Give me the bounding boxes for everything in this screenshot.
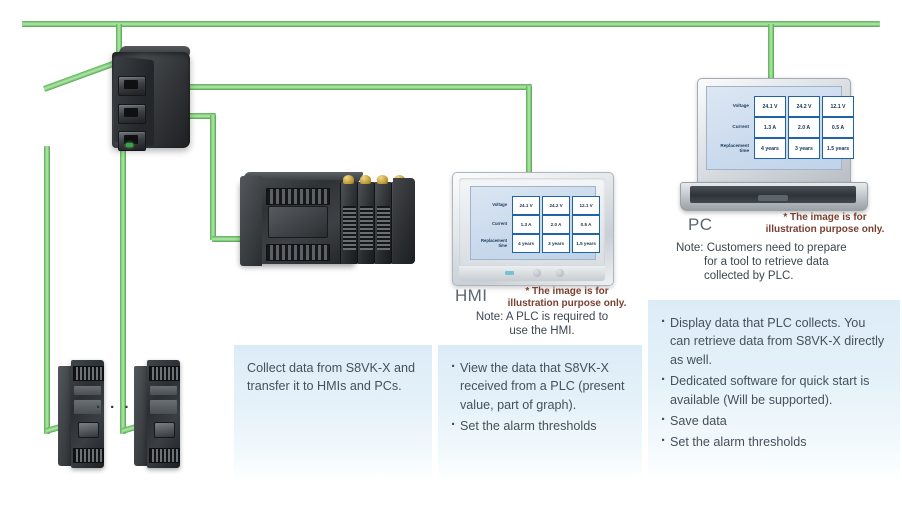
- psu-heatsink: [134, 366, 148, 466]
- cell-replacement-1: 4 years: [754, 138, 786, 159]
- plc-terminal-bottom: [266, 244, 330, 261]
- row-header-voltage: Voltage: [718, 96, 752, 117]
- cable-bus-to-pc: [768, 24, 774, 82]
- table-row: Voltage 24.1 V 24.2 V 12.1 V: [480, 196, 600, 215]
- psu-model-label: [74, 386, 101, 395]
- plc-end-cover: [393, 178, 415, 264]
- hmi-button-1[interactable]: [533, 269, 541, 277]
- hmi-label: HMI: [455, 286, 487, 306]
- hmi-bottom-bezel: [459, 266, 605, 281]
- psu-series-ellipsis: · · ·: [96, 399, 132, 416]
- list-item: Save data: [661, 412, 887, 430]
- psu-network-port: [78, 422, 99, 438]
- diagram-canvas: Voltage 24.1 V 24.2 V 12.1 V Current 1.3…: [0, 0, 902, 506]
- table-row: Replacement time 4 years 3 years 1.5 yea…: [718, 138, 854, 159]
- cell-voltage-3: 12.1 V: [572, 196, 600, 215]
- pc-info-box: Display data that PLC collects. You can …: [648, 300, 900, 483]
- cable-psu1-riser: [44, 146, 50, 434]
- cell-current-3: 0.5 A: [572, 215, 600, 234]
- cell-replacement-2: 3 years: [788, 138, 820, 159]
- cell-voltage-1: 24.1 V: [754, 96, 786, 117]
- psu-network-port: [154, 422, 175, 438]
- hmi-note: Note: A PLC is required to use the HMI.: [452, 310, 632, 338]
- psu-model-label: [150, 386, 177, 395]
- cable-switch-to-hmi-drop: [526, 86, 532, 174]
- hmi-button-2[interactable]: [556, 269, 564, 277]
- cell-replacement-3: 1.5 years: [572, 234, 600, 253]
- switch-port-2: [118, 104, 146, 124]
- cable-switch-to-plc-drop: [210, 115, 216, 240]
- plc-io-module-1: [340, 182, 358, 264]
- hmi-power-led: [505, 271, 514, 275]
- pc-info-list: Display data that PLC collects. You can …: [661, 314, 887, 452]
- plc-io-module-3: [374, 182, 392, 264]
- row-header-replacement-time: Replacement time: [480, 234, 510, 253]
- psu-indicator-panel: [150, 400, 177, 414]
- plc-info-box: Collect data from S8VK-X and transfer it…: [234, 345, 432, 483]
- cell-voltage-2: 24.2 V: [788, 96, 820, 117]
- cell-current-2: 2.0 A: [542, 215, 570, 234]
- list-item: Set the alarm thresholds: [661, 433, 887, 451]
- switch-port-3: [118, 131, 146, 151]
- plc-io-connector-1: [343, 175, 354, 184]
- cell-replacement-2: 3 years: [542, 234, 570, 253]
- list-item: Dedicated software for quick start is av…: [661, 372, 887, 409]
- list-item: Set the alarm thresholds: [451, 417, 629, 435]
- hmi-data-table: Voltage 24.1 V 24.2 V 12.1 V Current 1.3…: [478, 196, 602, 253]
- cable-top-bus: [22, 21, 880, 27]
- row-header-current: Current: [480, 215, 510, 234]
- psu-output-terminals: [73, 448, 104, 463]
- plc-io-connector-3: [377, 175, 388, 184]
- cell-replacement-1: 4 years: [512, 234, 540, 253]
- plc-front-window: [268, 206, 328, 238]
- s8vk-x-power-supply-2: [134, 360, 180, 468]
- table-row: Current 1.3 A 2.0 A 0.5 A: [718, 117, 854, 138]
- hmi-info-list: View the data that S8VK-X received from …: [451, 359, 629, 436]
- cell-replacement-3: 1.5 years: [822, 138, 854, 159]
- row-header-voltage: Voltage: [480, 196, 510, 215]
- pc-disclaimer: * The image is for illustration purpose …: [760, 212, 890, 236]
- cell-voltage-2: 24.2 V: [542, 196, 570, 215]
- psu-heatsink: [58, 366, 72, 466]
- hmi-info-box: View the data that S8VK-X received from …: [438, 345, 642, 483]
- list-item: View the data that S8VK-X received from …: [451, 359, 629, 414]
- cell-current-1: 1.3 A: [512, 215, 540, 234]
- psu-input-terminals: [73, 366, 104, 381]
- cell-voltage-1: 24.1 V: [512, 196, 540, 215]
- plc-io-connector-2: [360, 175, 371, 184]
- row-header-current: Current: [718, 117, 752, 138]
- table-row: Current 1.3 A 2.0 A 0.5 A: [480, 215, 600, 234]
- switch-status-led: [126, 143, 133, 147]
- cable-psu2-riser: [120, 120, 126, 434]
- plc-io-module-2: [357, 182, 375, 264]
- cell-current-3: 0.5 A: [822, 117, 854, 138]
- switch-port-1: [118, 76, 146, 96]
- cell-current-2: 2.0 A: [788, 117, 820, 138]
- table-row: Voltage 24.1 V 24.2 V 12.1 V: [718, 96, 854, 117]
- row-header-replacement-time: Replacement time: [718, 138, 752, 159]
- pc-data-table: Voltage 24.1 V 24.2 V 12.1 V Current 1.3…: [716, 96, 856, 159]
- cell-voltage-3: 12.1 V: [822, 96, 854, 117]
- pc-note: Note: Customers need to prepare for a to…: [676, 241, 876, 283]
- pc-label: PC: [688, 215, 712, 235]
- table-row: Replacement time 4 years 3 years 1.5 yea…: [480, 234, 600, 253]
- cable-switch-to-hmi-horizontal: [150, 84, 532, 90]
- psu-output-terminals: [149, 448, 180, 463]
- plc-info-text: Collect data from S8VK-X and transfer it…: [247, 359, 419, 396]
- hmi-disclaimer: * The image is for illustration purpose …: [505, 286, 629, 310]
- psu-input-terminals: [149, 366, 180, 381]
- laptop-touchpad: [758, 195, 788, 201]
- plc-terminal-top: [266, 188, 330, 205]
- list-item: Display data that PLC collects. You can …: [661, 314, 887, 369]
- plc-cpu-module: [240, 176, 262, 266]
- cell-current-1: 1.3 A: [754, 117, 786, 138]
